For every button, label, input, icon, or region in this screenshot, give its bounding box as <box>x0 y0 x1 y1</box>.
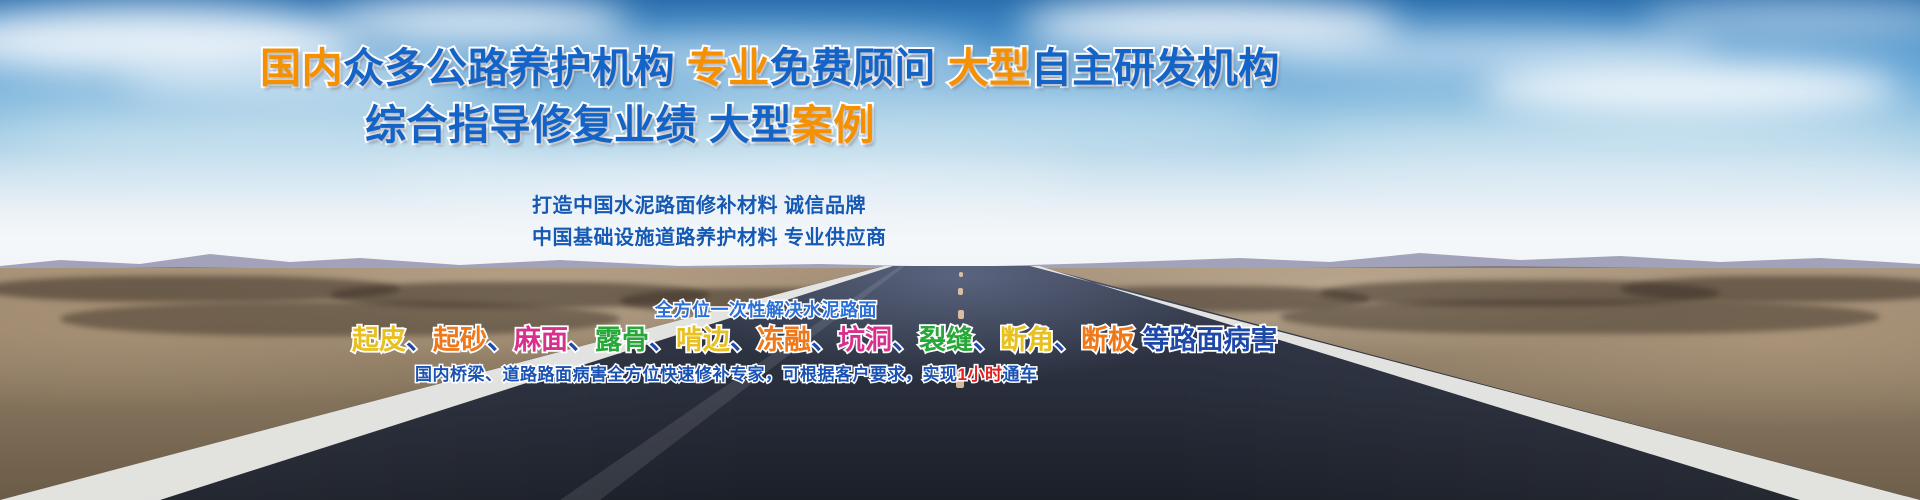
headline-run: 案例 <box>792 102 875 148</box>
headline-run: 众多公路养护机构 <box>343 45 675 91</box>
headline-run: 大型 <box>948 45 1031 91</box>
headline-line-2: 综合指导修复业绩 大型案例 <box>365 105 875 146</box>
headline-run: 免费顾问 <box>770 45 936 91</box>
disease-term: 起砂 <box>433 325 487 355</box>
headline-run <box>936 45 948 91</box>
disease-term: 露骨 <box>595 325 649 355</box>
cloud-shape <box>1480 60 1900 116</box>
lower-line-3: 国内桥梁、道路路面病害全方位快速修补专家，可根据客户要求，实现1小时通车 <box>415 360 1037 385</box>
subtitle-line-1: 打造中国水泥路面修补材料 诚信品牌 <box>532 190 866 222</box>
pavement-disease-list: 起皮、起砂、麻面、露骨、啃边、冻融、坑洞、裂缝、断角、断板 等路面病害 <box>352 318 1278 357</box>
headline-line-1: 国内众多公路养护机构 专业免费顾问 大型自主研发机构 <box>260 48 1280 89</box>
disease-term: 、 <box>1054 325 1081 355</box>
headline-run: 国内 <box>260 45 343 91</box>
disease-term: 断角 <box>1000 325 1054 355</box>
headline-run <box>675 45 687 91</box>
disease-term: 起皮 <box>352 325 406 355</box>
lower-line-3-highlight: 1小时 <box>958 365 1003 384</box>
disease-term: 啃边 <box>676 325 730 355</box>
headline-run: 大型 <box>709 102 792 148</box>
headline-run: 专业 <box>687 45 770 91</box>
headline-run: 自主研发机构 <box>1031 45 1280 91</box>
promotional-banner: 国内众多公路养护机构 专业免费顾问 大型自主研发机构 综合指导修复业绩 大型案例… <box>0 0 1920 500</box>
lower-line-3-text: 通车 <box>1002 365 1037 384</box>
disease-term: 麻面 <box>514 325 568 355</box>
disease-term: 坑洞 <box>838 325 892 355</box>
disease-term: 、 <box>487 325 514 355</box>
lower-line-3-text: 国内桥梁、道路路面病害全方位快速修补专家，可根据客户要求，实现 <box>415 365 958 384</box>
disease-term: 、 <box>568 325 595 355</box>
disease-term: 裂缝 <box>919 325 973 355</box>
disease-term: 、 <box>892 325 919 355</box>
disease-term: 断板 <box>1081 325 1135 355</box>
center-dash <box>958 288 963 295</box>
disease-term: 、 <box>811 325 838 355</box>
disease-term: 、 <box>973 325 1000 355</box>
cloud-shape <box>330 0 630 44</box>
headline-run: 综合指导修复业绩 <box>365 102 697 148</box>
disease-term: 、 <box>649 325 676 355</box>
center-dash <box>959 272 963 277</box>
disease-term: 、 <box>730 325 757 355</box>
disease-term <box>1135 325 1143 355</box>
cloud-shape <box>1280 118 1920 182</box>
headline-run <box>697 102 709 148</box>
disease-term: 冻融 <box>757 325 811 355</box>
subtitle-line-2: 中国基础设施道路养护材料 专业供应商 <box>532 222 887 254</box>
disease-term: 等路面病害 <box>1143 325 1278 355</box>
disease-term: 、 <box>406 325 433 355</box>
